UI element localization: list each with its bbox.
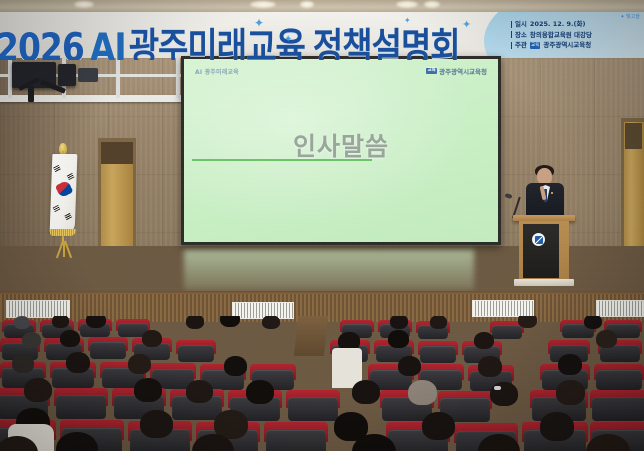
event-banner: 2026AI광주미래교육정책설명회 ✦ ✦ ✦ ✦ 일시 2025. 12. 9…: [0, 12, 644, 60]
ceiling-light: [396, 1, 418, 8]
ceiling-light: [74, 1, 94, 8]
podium-emblem-icon: [532, 233, 545, 246]
slide-header-right: 교육 광주광역시교육청: [426, 66, 487, 76]
audience-seating: [0, 316, 644, 451]
wall-vent: [596, 300, 644, 317]
slide-office-chip: 교육: [426, 68, 437, 75]
aisle: [294, 316, 328, 356]
audience-head: [60, 330, 80, 347]
audience-head: [596, 330, 617, 348]
projector-lens: [78, 68, 98, 82]
seat[interactable]: [288, 397, 338, 421]
ceiling-light: [250, 1, 276, 8]
audience-head: [24, 378, 52, 402]
slide-header-left: AI 광주미래교육: [195, 67, 239, 76]
stage-projector-glow: [184, 250, 474, 290]
audience-head: [224, 356, 247, 376]
audience-head: [556, 380, 585, 405]
seat[interactable]: [56, 395, 106, 419]
banner-info-label: 장소: [515, 30, 527, 41]
banner-info-row: 장소 창의융합교육원 대강당: [511, 30, 592, 41]
audience-head: [86, 316, 106, 328]
audience-head: [52, 316, 69, 328]
speaker-lapel-badge: [551, 192, 553, 194]
flag-cloth: [50, 154, 78, 234]
taeguk-symbol: [55, 180, 74, 199]
hair-clip: [494, 386, 501, 390]
banner-info-label: 일시: [515, 19, 527, 30]
sparkle-icon: ✦: [284, 34, 292, 45]
banner-info-label: 주관: [515, 40, 527, 51]
projector-mount: [58, 64, 76, 86]
audience-head: [186, 380, 213, 403]
audience-head: [262, 316, 280, 329]
slide-title: 인사말씀: [184, 127, 498, 163]
projection-screen-frame: AI 광주미래교육 교육 광주광역시교육청 인사말씀: [181, 56, 501, 245]
ceiling-light: [424, 1, 440, 8]
audience-head: [584, 316, 602, 329]
audience-head: [140, 410, 173, 438]
banner-title-year: 2026: [0, 24, 84, 60]
seat[interactable]: [592, 397, 644, 421]
sparkle-icon: ✦: [462, 18, 471, 31]
audience-head: [246, 380, 274, 404]
projection-screen: AI 광주미래교육 교육 광주광역시교육청 인사말씀: [184, 59, 498, 242]
seat[interactable]: [492, 325, 522, 339]
seat[interactable]: [420, 346, 456, 363]
audience-head: [22, 332, 41, 348]
auditorium-photo: 2026AI광주미래교육정책설명회 ✦ ✦ ✦ ✦ 일시 2025. 12. 9…: [0, 0, 644, 451]
audience-head: [220, 316, 240, 327]
banner-title-event: 정책설명회: [313, 24, 460, 60]
banner-info-row: 일시 2025. 12. 9.(화): [511, 19, 592, 30]
sparkle-icon: ✦: [254, 16, 264, 30]
flag-fringe: [50, 229, 76, 236]
trigram-gon: [64, 213, 72, 220]
audience-head: [478, 356, 502, 377]
banner-title-main: 광주미래교육: [129, 24, 305, 60]
divider: [511, 21, 512, 28]
audience-head: [422, 412, 455, 440]
slide-header-right-label: 광주광역시교육청: [439, 66, 487, 76]
wall-vent: [472, 300, 534, 317]
korean-flag: [34, 141, 96, 259]
projector-arm: [28, 86, 34, 102]
flag-stand-leg: [63, 241, 65, 257]
divider: [511, 31, 512, 38]
audience-head: [408, 380, 437, 405]
seat[interactable]: [90, 342, 126, 359]
seat[interactable]: [266, 430, 326, 451]
audience-head: [128, 354, 151, 374]
slide-underline: [192, 159, 372, 161]
banner-title: 2026AI광주미래교육정책설명회: [0, 16, 460, 60]
audience-head: [518, 316, 537, 328]
banner-info-value: 창의융합교육원 대강당: [530, 30, 592, 41]
seat[interactable]: [178, 345, 214, 362]
trigram-gam: [67, 173, 75, 180]
audience-head: [142, 330, 162, 347]
education-office-chip: 교육: [530, 42, 540, 49]
audience-head: [474, 332, 494, 349]
audience-head: [66, 352, 90, 373]
banner-info-row: 주관 교육 광주광역시교육청: [511, 40, 592, 51]
truss-post: [176, 58, 180, 98]
podium-base: [514, 279, 574, 286]
sparkle-icon: ✦: [404, 16, 411, 25]
trigram-ri: [53, 205, 61, 212]
audience-head: [390, 316, 408, 329]
audience-head: [352, 380, 380, 404]
audience-head: [186, 316, 204, 329]
banner-corner-logo: ✦ 빛고을: [620, 14, 640, 20]
audience-head: [134, 378, 162, 402]
flag-stand: [42, 241, 86, 259]
podium-front-panel: [523, 224, 559, 278]
banner-info-block: 일시 2025. 12. 9.(화) 장소 창의융합교육원 대강당 주관 교육 …: [511, 19, 592, 51]
audience-head: [540, 412, 574, 441]
door-window-right: [625, 123, 642, 149]
audience-head: [12, 354, 34, 373]
banner-info-value: 광주광역시교육청: [543, 40, 591, 51]
door-window-left: [101, 142, 133, 164]
audience-head: [388, 330, 409, 348]
audience-head: [430, 316, 447, 329]
banner-title-ai: AI: [90, 24, 126, 60]
trigram-geon: [53, 165, 61, 172]
divider: [511, 42, 512, 49]
ceiling-light: [300, 1, 314, 8]
audience-head: [558, 354, 582, 375]
audience-head: [14, 316, 30, 329]
truss-post: [116, 58, 120, 98]
flag-stand-leg: [64, 241, 72, 258]
audience-head: [398, 356, 421, 376]
banner-info-value: 2025. 12. 9.(화): [530, 19, 586, 30]
seat[interactable]: [596, 370, 642, 390]
